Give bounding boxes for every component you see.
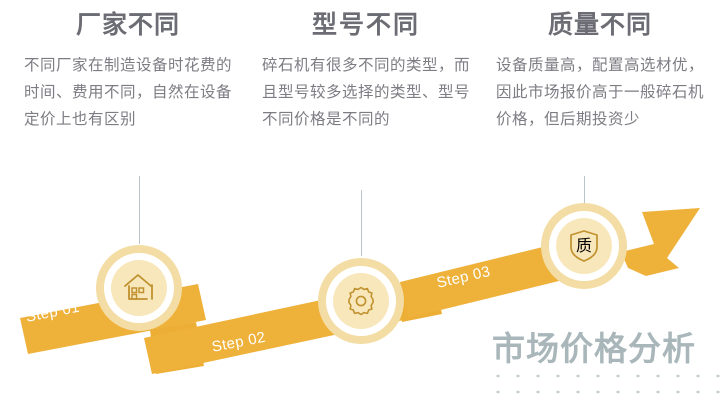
node-circle-3-core: 质 [556, 218, 612, 274]
watermark-text: 市场价格分析 [492, 330, 696, 368]
node-circle-2-core [333, 273, 389, 329]
shield-quality-icon: 质 [567, 228, 601, 264]
node-circle-3-ring: 质 [549, 211, 619, 281]
factory-house-icon [122, 272, 156, 304]
node-circle-1[interactable] [96, 245, 182, 331]
node-circle-1-ring [104, 253, 174, 323]
node-circle-3[interactable]: 质 [541, 203, 627, 289]
node-circle-1-core [111, 260, 167, 316]
shield-icon-character: 质 [576, 236, 592, 255]
dot-grid-pattern [488, 368, 720, 400]
arrow-head-icon [621, 208, 700, 276]
infographic-canvas: 厂家不同 不同厂家在制造设备时花费的时间、费用不同，自然在设备定价上也有区别 型… [0, 0, 720, 400]
node-circle-2[interactable] [318, 258, 404, 344]
node-circle-2-ring [326, 266, 396, 336]
gear-icon [344, 284, 378, 318]
